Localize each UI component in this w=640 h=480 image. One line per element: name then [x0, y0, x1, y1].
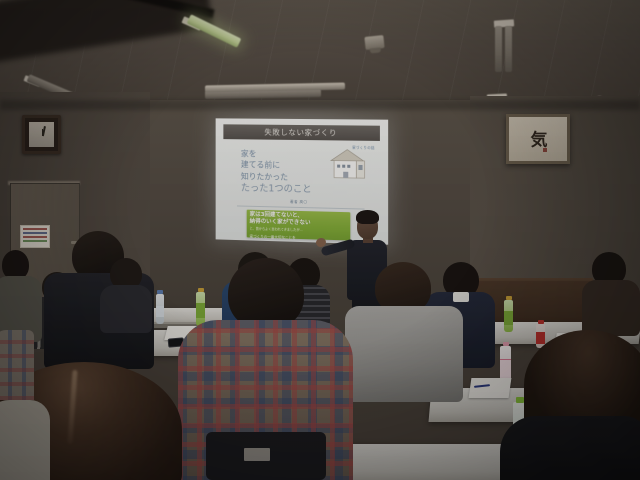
seminar-room-photo: 気 失敗しない家づくり 家づくりの話 家を 建てる前に: [0, 0, 640, 480]
attendee-back-center: [100, 258, 152, 326]
bottle-label: [156, 306, 164, 317]
attendee-plaid-left-edge: [0, 330, 34, 400]
green-tea-bottle-center: [504, 300, 513, 332]
slide-title-bar: 失敗しない家づくり: [223, 124, 380, 141]
clock-minute-hand: [42, 126, 45, 136]
fluorescent-light-4: [495, 26, 502, 72]
slide-author-line: 著者 髙〇: [290, 200, 307, 205]
notice-line-1: [23, 228, 47, 230]
calligraphy-frame: 気: [506, 114, 570, 164]
bottle-label: [504, 311, 513, 325]
fluorescent-light-5: [505, 26, 512, 72]
attendee-torso: [0, 400, 50, 480]
clock-face: [29, 122, 54, 147]
wall-ceiling-join: [0, 100, 640, 110]
bottle-cap: [506, 296, 512, 300]
slide-body-line-4: たった1つのこと: [241, 182, 332, 197]
attendee-torso: [582, 280, 640, 336]
attendee-far-left: [0, 250, 40, 340]
attendee-torso: [100, 285, 152, 333]
attendee-torso: [345, 306, 463, 402]
attendee-left-foreground: [0, 400, 50, 480]
chair-label-tag: [244, 448, 270, 461]
attendee-far-right: [586, 252, 640, 328]
water-bottle-back-left: [156, 294, 164, 324]
calligraphy-mark: 気: [531, 125, 546, 150]
slide-title: 失敗しない家づくり: [264, 127, 337, 139]
slide-green-callout: 家は3回建てないと、 納得のいく家ができない と、昔からよく言われてきましたが……: [247, 210, 351, 241]
attendee-torso: [0, 330, 34, 400]
attendee-right-foreground: [500, 330, 640, 480]
calligraphy-seal: [543, 148, 547, 152]
presenter-hair: [356, 210, 379, 224]
attendee-torso: [500, 416, 640, 480]
bottle-cap: [157, 290, 163, 294]
ceiling-projector-icon: [364, 35, 384, 50]
attendee-gray-sweater: [345, 262, 463, 392]
bottle-cap: [538, 320, 544, 324]
slide-body-text: 家を 建てる前に 知りたかった たった1つのこと: [241, 148, 332, 197]
wall-clock: [22, 115, 61, 154]
